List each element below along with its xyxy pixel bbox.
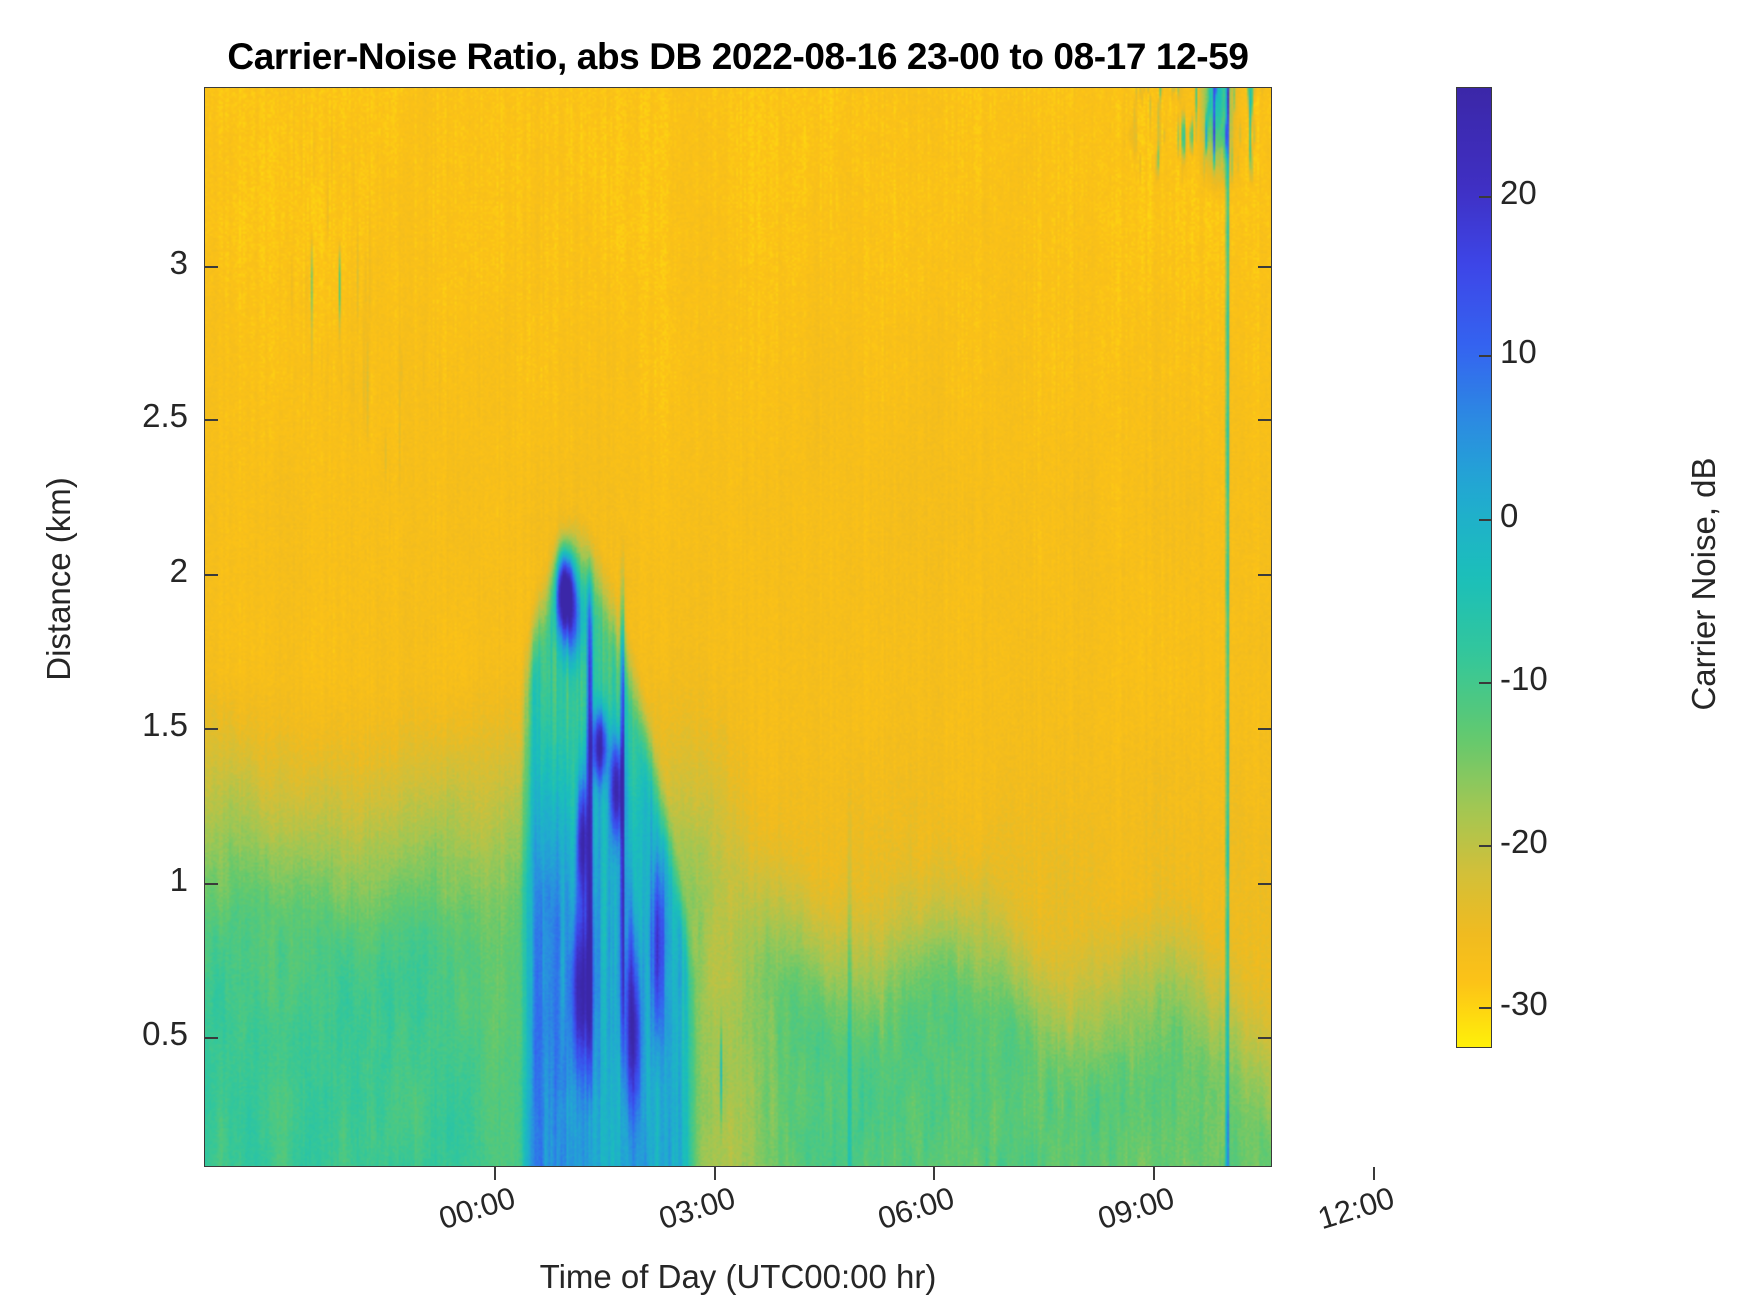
y-tick-label: 2 — [68, 554, 188, 587]
y-tick-mark — [204, 1037, 218, 1039]
colorbar-tick-mark — [1479, 196, 1492, 198]
x-tick-mark — [1153, 1167, 1155, 1180]
colorbar-tick-label: 10 — [1500, 335, 1537, 368]
y-tick-mark — [204, 574, 218, 576]
y-tick-mark — [204, 883, 218, 885]
heatmap-axes[interactable] — [204, 87, 1272, 1167]
colorbar-tick-mark — [1479, 845, 1492, 847]
colorbar-tick-label: -10 — [1500, 662, 1548, 695]
x-axis-label: Time of Day (UTC00:00 hr) — [204, 1258, 1272, 1296]
y-tick-label: 1.5 — [68, 708, 188, 741]
colorbar-gradient — [1457, 88, 1491, 1047]
colorbar-tick-label: -20 — [1500, 825, 1548, 858]
figure-canvas: Carrier-Noise Ratio, abs DB 2022-08-16 2… — [0, 0, 1750, 1313]
y-tick-mark — [204, 266, 218, 268]
colorbar-tick-mark — [1479, 355, 1492, 357]
colorbar-tick-label: -30 — [1500, 987, 1548, 1020]
y-tick-mark — [204, 419, 218, 421]
x-tick-label: 09:00 — [1055, 1180, 1178, 1249]
y-tick-label: 2.5 — [68, 399, 188, 432]
colorbar-tick-mark — [1479, 519, 1492, 521]
y-tick-mark — [1258, 574, 1272, 576]
y-tick-mark — [1258, 1037, 1272, 1039]
x-tick-mark — [494, 1167, 496, 1180]
x-tick-label: 06:00 — [835, 1180, 958, 1249]
x-tick-label: 12:00 — [1275, 1180, 1398, 1249]
y-tick-mark — [1258, 419, 1272, 421]
heatmap-image — [205, 88, 1271, 1166]
y-tick-mark — [1258, 883, 1272, 885]
x-tick-label: 00:00 — [396, 1180, 519, 1249]
y-tick-mark — [1258, 266, 1272, 268]
x-tick-mark — [1373, 1167, 1375, 1180]
y-tick-label: 1 — [68, 863, 188, 896]
x-tick-label: 03:00 — [616, 1180, 739, 1249]
x-tick-mark — [933, 1167, 935, 1180]
colorbar-tick-label: 0 — [1500, 499, 1518, 532]
y-tick-mark — [204, 728, 218, 730]
page-title: Carrier-Noise Ratio, abs DB 2022-08-16 2… — [204, 36, 1272, 78]
y-tick-label: 3 — [68, 246, 188, 279]
colorbar-tick-mark — [1479, 682, 1492, 684]
x-tick-mark — [714, 1167, 716, 1180]
colorbar-label: Carrier Noise, dB — [1685, 304, 1723, 864]
colorbar[interactable] — [1456, 87, 1492, 1048]
colorbar-tick-label: 20 — [1500, 176, 1537, 209]
y-tick-label: 0.5 — [68, 1017, 188, 1050]
colorbar-tick-mark — [1479, 1007, 1492, 1009]
y-tick-mark — [1258, 728, 1272, 730]
